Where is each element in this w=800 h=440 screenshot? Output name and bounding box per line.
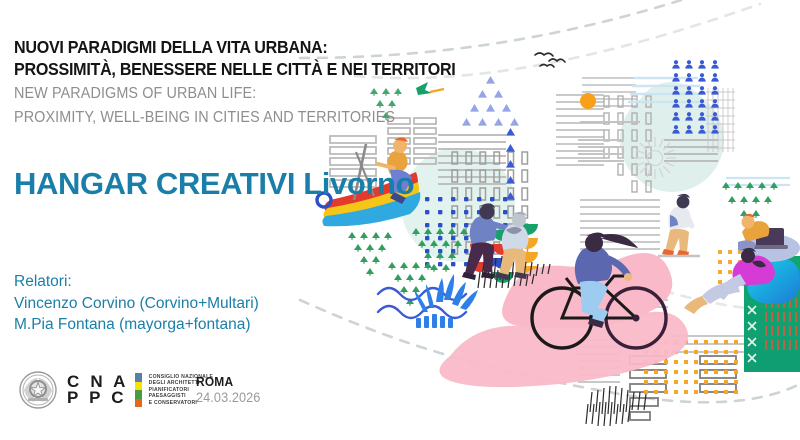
- text-layer: NUOVI PARADIGMI DELLA VITA URBANA: PROSS…: [0, 0, 800, 440]
- title-block: NUOVI PARADIGMI DELLA VITA URBANA: PROSS…: [14, 36, 494, 128]
- title-english-line2: PROXIMITY, WELL-BEING IN CITIES AND TERR…: [14, 107, 446, 128]
- color-bar-yellow: [135, 382, 142, 391]
- color-bar-orange: [135, 399, 142, 408]
- speaker-1: Vincenzo Corvino (Corvino+Multari): [14, 293, 259, 315]
- cnappc-letters-line2: P P C: [67, 390, 129, 406]
- speakers-label: Relatori:: [14, 271, 259, 293]
- title-english-line1: NEW PARADIGMS OF URBAN LIFE:: [14, 83, 446, 104]
- cnappc-letters: C N A P P C: [67, 374, 129, 406]
- event-place-date: ROMA 24.03.2026: [196, 374, 265, 405]
- color-bar-green: [135, 390, 142, 399]
- event-headline: HANGAR CREATIVI Livorno: [14, 166, 414, 202]
- speakers-block: Relatori: Vincenzo Corvino (Corvino+Mult…: [14, 271, 259, 336]
- color-bar-blue: [135, 373, 142, 382]
- event-date: 24.03.2026: [196, 390, 260, 405]
- cnappc-logo: C N A P P C CONSIGLIO NAZIONALE DEGLI AR…: [18, 370, 213, 410]
- event-city: ROMA: [196, 374, 259, 389]
- footer: C N A P P C CONSIGLIO NAZIONALE DEGLI AR…: [0, 366, 800, 426]
- title-italian-line2: PROSSIMITÀ, BENESSERE NELLE CITTÀ E NEI …: [14, 58, 455, 80]
- poster-root: NUOVI PARADIGMI DELLA VITA URBANA: PROSS…: [0, 0, 800, 440]
- title-italian-line1: NUOVI PARADIGMI DELLA VITA URBANA:: [14, 36, 455, 58]
- cnappc-color-bars: [135, 373, 142, 407]
- italian-republic-emblem-icon: [18, 370, 58, 410]
- speaker-2: M.Pia Fontana (mayorga+fontana): [14, 314, 259, 336]
